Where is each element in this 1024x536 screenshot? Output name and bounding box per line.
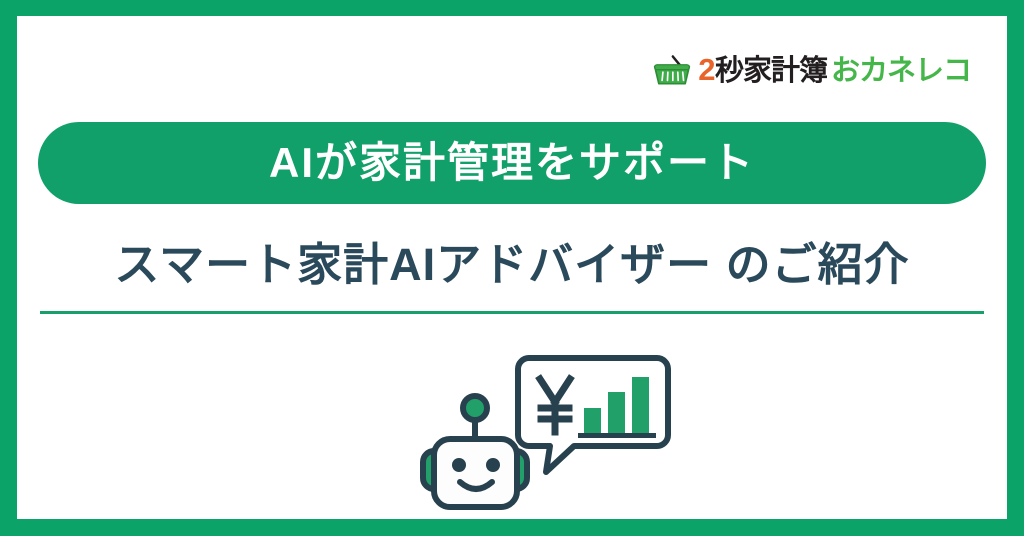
hero-pill-banner: AIが家計管理をサポート (38, 122, 986, 204)
brand-wordmark: 2秒家計簿おカネレコ (698, 54, 971, 86)
poster-frame: 2秒家計簿おカネレコ AIが家計管理をサポート スマート家計AIアドバイザー の… (0, 0, 1024, 536)
ai-robot-illustration (412, 346, 672, 516)
robot-left-eye (452, 458, 466, 472)
brand-green-text: おカネレコ (831, 57, 971, 86)
brand-logo[interactable]: 2秒家計簿おカネレコ (652, 52, 971, 88)
robot-head-icon (434, 439, 517, 507)
brand-number: 2 (698, 54, 715, 85)
hero-subtitle: スマート家計AIアドバイザー のご紹介 (17, 242, 1007, 287)
robot-right-eye (486, 458, 500, 472)
poster-card: 2秒家計簿おカネレコ AIが家計管理をサポート スマート家計AIアドバイザー の… (17, 16, 1007, 519)
robot-chart-graphic (412, 346, 672, 516)
hero-pill-label: AIが家計管理をサポート (269, 142, 755, 184)
robot-antenna-icon (463, 396, 487, 441)
shopping-basket-icon (652, 54, 692, 87)
brand-dark-text: 秒家計簿 (715, 57, 827, 86)
section-divider (40, 311, 984, 314)
